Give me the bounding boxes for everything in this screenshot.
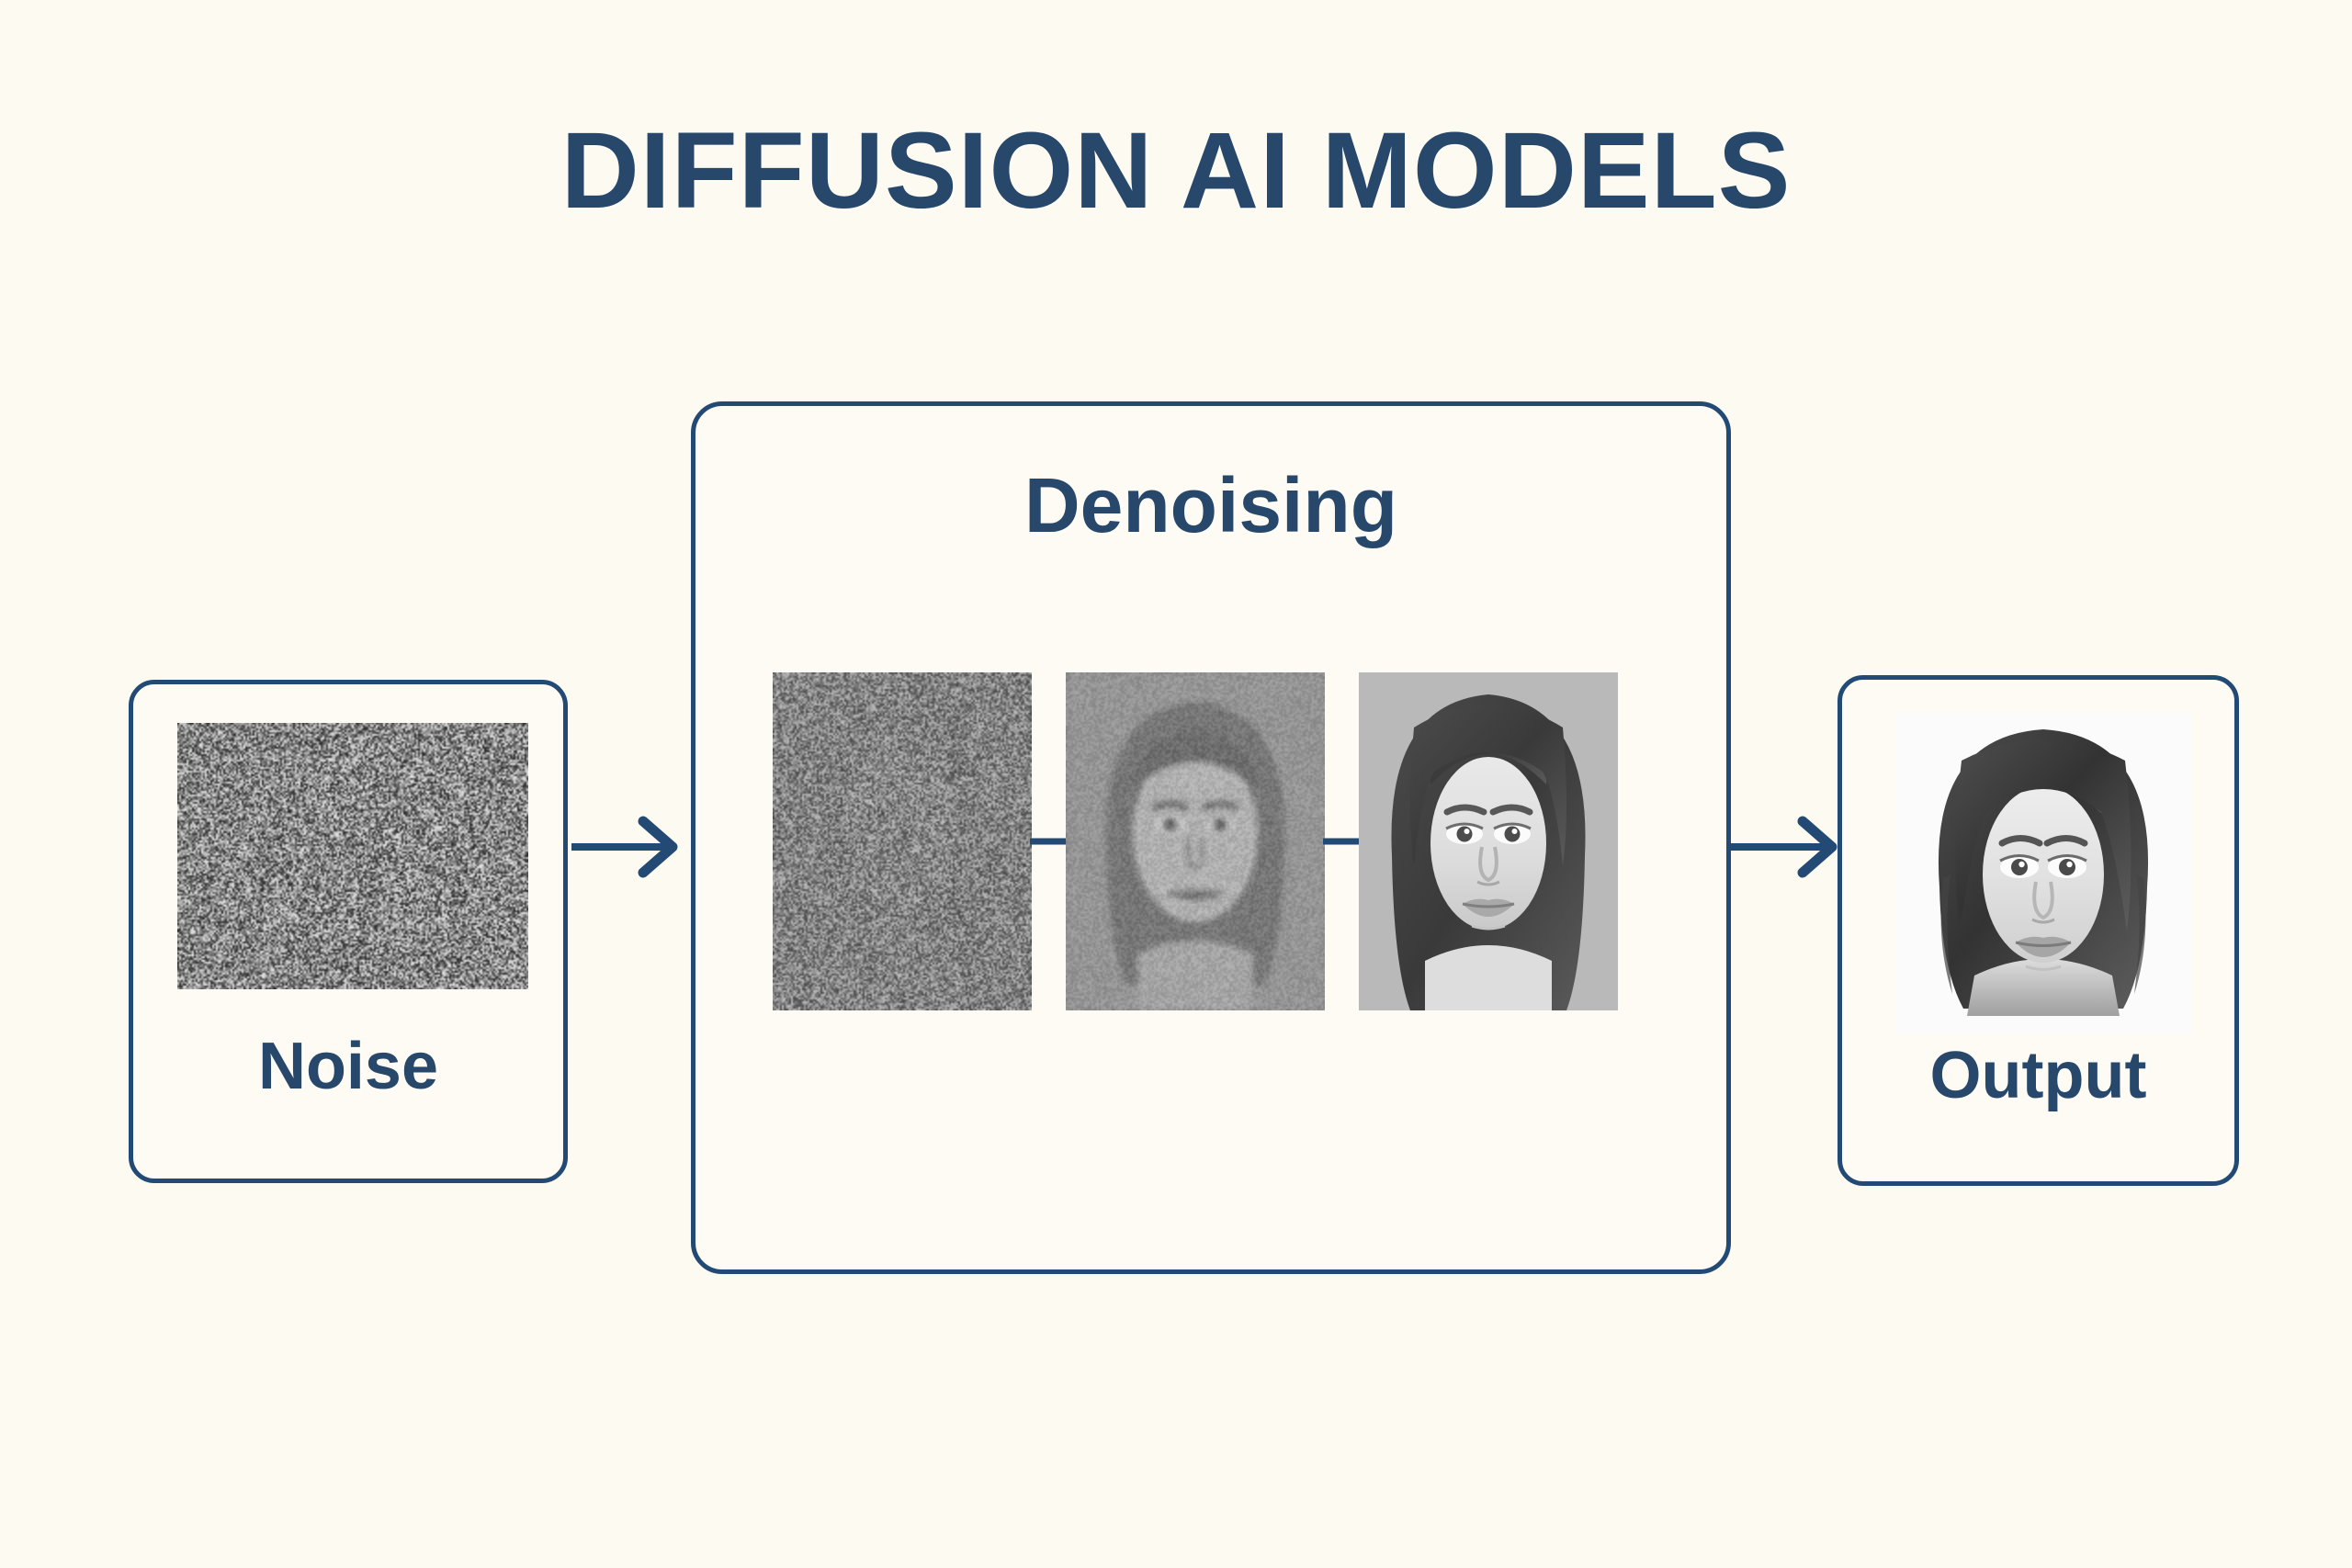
page-title: DIFFUSION AI MODELS (0, 108, 2352, 233)
noisy-face-step-2 (1066, 672, 1325, 1010)
stage1-noise-overlay (773, 672, 1032, 1010)
noise-card: Noise (129, 680, 568, 1183)
stage2-noise-overlay (1066, 672, 1325, 1010)
noisy-face-step-1 (773, 672, 1032, 1010)
diagram-canvas: DIFFUSION AI MODELS Noise Denoising (0, 0, 2352, 1568)
noise-card-label: Noise (133, 1029, 563, 1104)
output-card: Output (1837, 675, 2239, 1186)
output-card-label: Output (1842, 1038, 2234, 1113)
denoising-card: Denoising (691, 401, 1731, 1274)
horizontal-line-connector (1325, 672, 1359, 1010)
clean-face-step-3 (1359, 672, 1618, 1010)
final-portrait (1895, 713, 2191, 1032)
denoising-title: Denoising (695, 461, 1726, 550)
gaussian-noise-swatch (177, 723, 528, 989)
arrow-noise-to-denoising (571, 810, 700, 884)
denoising-stage-list (773, 672, 1618, 1010)
horizontal-line-connector (1032, 672, 1066, 1010)
noise-texture (177, 723, 528, 989)
